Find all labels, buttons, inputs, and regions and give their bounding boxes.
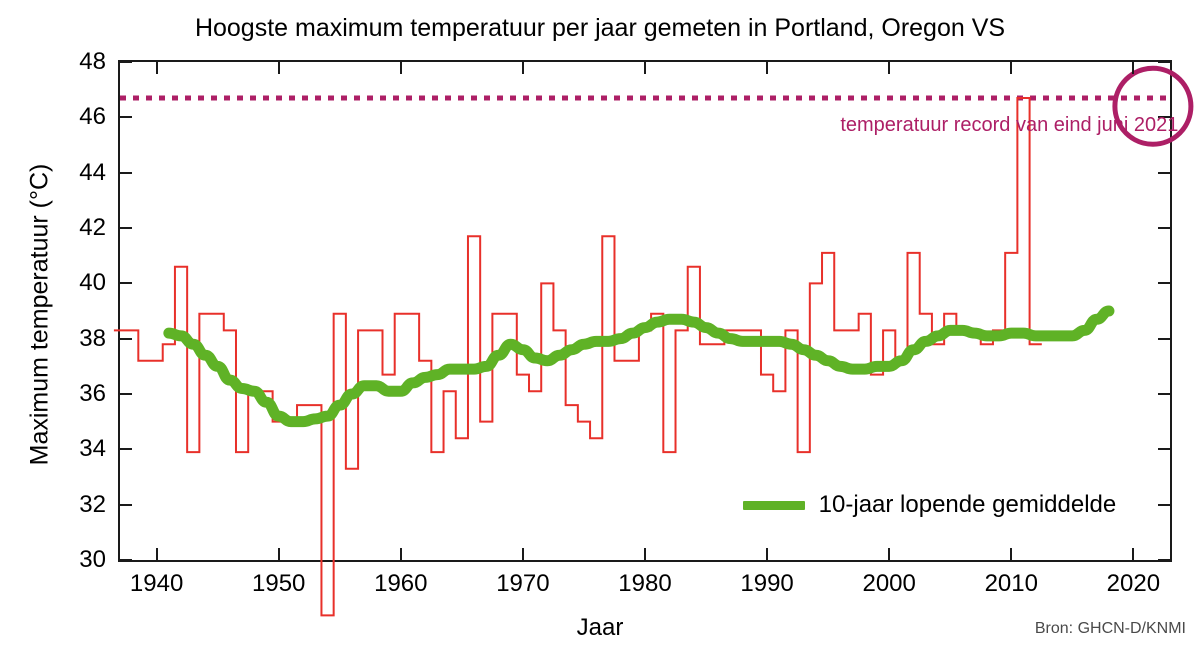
x-tick-label-2010: 2010 <box>956 570 1066 598</box>
x-tick-1950 <box>278 548 280 562</box>
x-tick-label-1990: 1990 <box>712 570 822 598</box>
x-tick-2020 <box>1132 60 1134 74</box>
y-tick-label-46: 46 <box>22 103 106 131</box>
y-tick-30 <box>118 559 132 561</box>
chart-page: Hoogste maximum temperatuur per jaar gem… <box>0 0 1200 672</box>
y-tick-40 <box>118 282 132 284</box>
y-tick-34 <box>1158 448 1172 450</box>
x-tick-1990 <box>766 60 768 74</box>
x-tick-label-1950: 1950 <box>224 570 334 598</box>
y-tick-38 <box>118 338 132 340</box>
y-tick-42 <box>1158 227 1172 229</box>
y-tick-label-38: 38 <box>22 325 106 353</box>
x-tick-1940 <box>156 548 158 562</box>
x-tick-label-1960: 1960 <box>346 570 456 598</box>
y-tick-44 <box>118 172 132 174</box>
chart-legend: 10-jaar lopende gemiddelde <box>743 491 1117 519</box>
x-tick-label-1940: 1940 <box>102 570 212 598</box>
x-tick-1960 <box>400 548 402 562</box>
x-tick-2020 <box>1132 548 1134 562</box>
y-tick-label-30: 30 <box>22 546 106 574</box>
x-tick-1940 <box>156 60 158 74</box>
x-tick-1970 <box>522 548 524 562</box>
x-tick-label-1980: 1980 <box>590 570 700 598</box>
x-tick-2000 <box>888 548 890 562</box>
record-annotation-label: temperatuur record van eind juni 2021 <box>840 114 1178 137</box>
x-tick-2010 <box>1010 548 1012 562</box>
x-tick-1990 <box>766 548 768 562</box>
x-tick-2000 <box>888 60 890 74</box>
y-tick-label-40: 40 <box>22 269 106 297</box>
y-tick-40 <box>1158 282 1172 284</box>
x-tick-label-2020: 2020 <box>1078 570 1188 598</box>
x-tick-label-2000: 2000 <box>834 570 944 598</box>
y-tick-label-48: 48 <box>22 48 106 76</box>
y-tick-46 <box>118 116 132 118</box>
y-tick-30 <box>1158 559 1172 561</box>
y-tick-32 <box>1158 504 1172 506</box>
legend-label-running-mean: 10-jaar lopende gemiddelde <box>819 491 1117 519</box>
y-tick-48 <box>1158 61 1172 63</box>
x-axis-title: Jaar <box>500 614 700 642</box>
x-tick-2010 <box>1010 60 1012 74</box>
x-tick-label-1970: 1970 <box>468 570 578 598</box>
source-note: Bron: GHCN-D/KNMI <box>1035 620 1186 638</box>
x-tick-1950 <box>278 60 280 74</box>
x-tick-1960 <box>400 60 402 74</box>
x-tick-1980 <box>644 60 646 74</box>
y-tick-label-34: 34 <box>22 435 106 463</box>
y-tick-38 <box>1158 338 1172 340</box>
y-tick-36 <box>1158 393 1172 395</box>
y-tick-label-44: 44 <box>22 159 106 187</box>
y-tick-label-42: 42 <box>22 214 106 242</box>
x-tick-1970 <box>522 60 524 74</box>
y-tick-32 <box>118 504 132 506</box>
page-title: Hoogste maximum temperatuur per jaar gem… <box>0 14 1200 43</box>
y-tick-48 <box>118 61 132 63</box>
y-tick-36 <box>118 393 132 395</box>
y-tick-34 <box>118 448 132 450</box>
y-tick-label-36: 36 <box>22 380 106 408</box>
x-tick-1980 <box>644 548 646 562</box>
y-tick-label-32: 32 <box>22 491 106 519</box>
y-tick-42 <box>118 227 132 229</box>
y-tick-44 <box>1158 172 1172 174</box>
legend-swatch-running-mean <box>743 501 805 510</box>
